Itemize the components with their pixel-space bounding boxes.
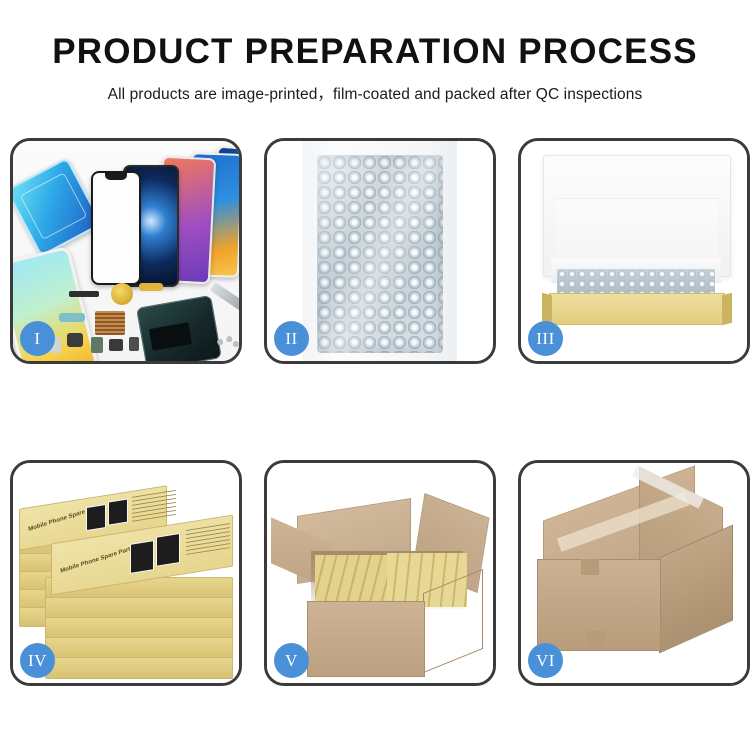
steps-grid: I II III <box>10 138 740 686</box>
step-panel-2[interactable]: II <box>264 138 496 364</box>
page-title: PRODUCT PREPARATION PROCESS <box>0 34 750 71</box>
step-panel-5[interactable]: V <box>264 460 496 686</box>
step-badge-3: III <box>528 321 563 356</box>
page-subtitle: All products are image-printed，film-coat… <box>0 82 750 104</box>
box-label-front: Mobile Phone Spare Parts <box>60 546 134 575</box>
step-panel-3[interactable]: III <box>518 138 750 364</box>
step-badge-4: IV <box>20 643 55 678</box>
step-badge-2: II <box>274 321 309 356</box>
step-panel-6[interactable]: VI <box>518 460 750 686</box>
step-panel-1[interactable]: I <box>10 138 242 364</box>
header: PRODUCT PREPARATION PROCESS All products… <box>0 0 750 104</box>
step-badge-1: I <box>20 321 55 356</box>
step-badge-6: VI <box>528 643 563 678</box>
product-preparation-infographic: PRODUCT PREPARATION PROCESS All products… <box>0 0 750 750</box>
step-panel-4[interactable]: Mobile Phone Spare Parts Mobile Phone Sp… <box>10 460 242 686</box>
step-badge-5: V <box>274 643 309 678</box>
